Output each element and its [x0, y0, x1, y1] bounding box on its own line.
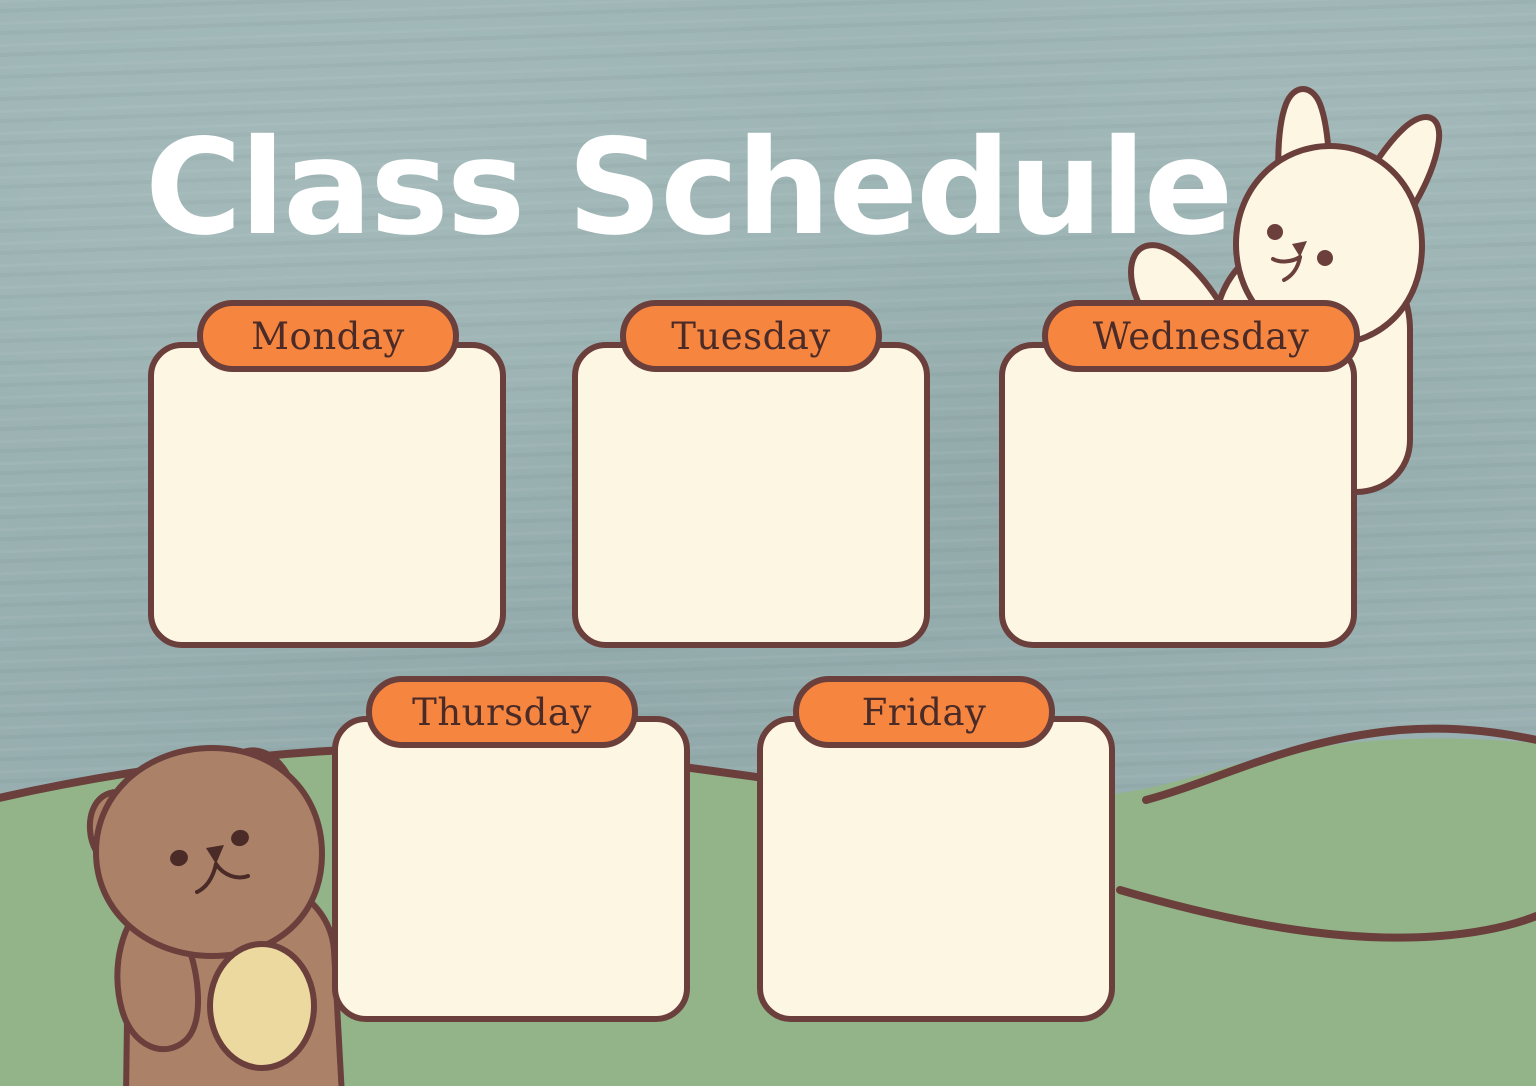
day-card-monday[interactable] [148, 342, 506, 648]
day-card-tuesday[interactable] [572, 342, 930, 648]
day-badge-monday[interactable]: Monday [197, 300, 459, 372]
day-badge-thursday[interactable]: Thursday [366, 676, 638, 748]
day-card-thursday[interactable] [332, 716, 690, 1022]
day-card-wednesday[interactable] [999, 342, 1357, 648]
day-badge-wednesday[interactable]: Wednesday [1042, 300, 1360, 372]
day-card-friday[interactable] [757, 716, 1115, 1022]
class-schedule-poster: Monday Tuesday Wednesday Thursday Friday… [0, 0, 1536, 1086]
day-badge-friday[interactable]: Friday [793, 676, 1055, 748]
page-title: Class Schedule [145, 122, 1231, 254]
bear-belly [210, 944, 314, 1068]
day-badge-tuesday[interactable]: Tuesday [620, 300, 882, 372]
